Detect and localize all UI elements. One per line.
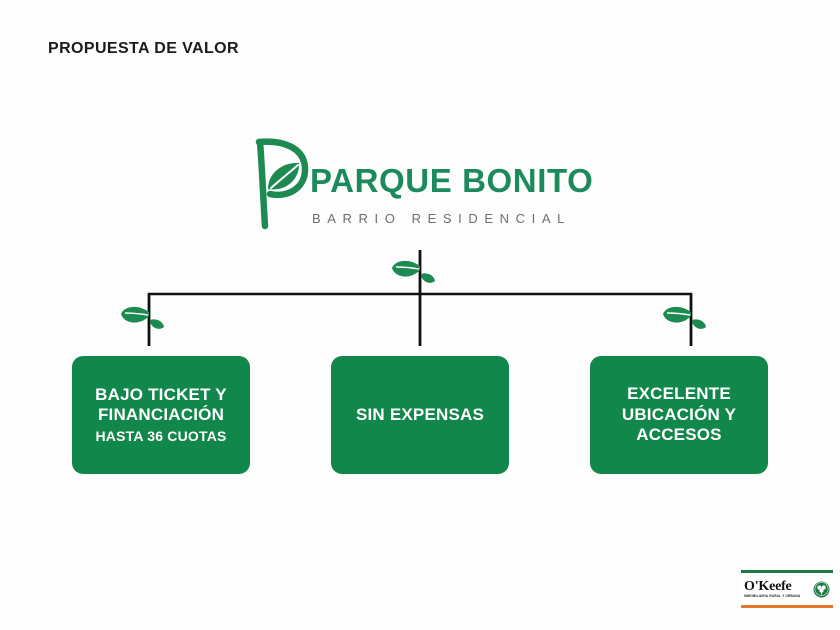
value-card-title: SIN EXPENSAS [356,405,484,426]
connector-bracket [120,248,720,368]
okeefe-name: O'Keefe [744,580,800,594]
value-card-excelente-ubicacion[interactable]: EXCELENTE UBICACIÓN Y ACCESOS [590,356,768,474]
okeefe-text-block: O'Keefe INMOBILIARIA RURAL Y URBANA [744,580,800,598]
brand-wordmark: PARQUE BONITO [310,162,593,200]
leaf-sprout-icon-left [121,307,164,329]
brand-logo: PARQUE BONITO BARRIO RESIDENCIAL [246,132,596,237]
value-card-title: EXCELENTE UBICACIÓN Y ACCESOS [600,384,758,446]
leaf-p-monogram-icon [246,132,318,232]
okeefe-subtitle: INMOBILIARIA RURAL Y URBANA [744,595,800,598]
value-card-subtitle: HASTA 36 CUOTAS [95,428,226,446]
okeefe-logo: O'Keefe INMOBILIARIA RURAL Y URBANA [741,570,833,608]
okeefe-bottom-bar [741,605,833,608]
value-card-title: BAJO TICKET Y FINANCIACIÓN [82,385,240,426]
shamrock-badge-icon [813,581,830,598]
brand-tagline: BARRIO RESIDENCIAL [312,211,571,226]
leaf-sprout-icon-right [663,307,706,329]
value-card-sin-expensas[interactable]: SIN EXPENSAS [331,356,509,474]
okeefe-logo-body: O'Keefe INMOBILIARIA RURAL Y URBANA [741,573,833,605]
leaf-sprout-icon-center [392,261,435,283]
value-card-bajo-ticket[interactable]: BAJO TICKET Y FINANCIACIÓN HASTA 36 CUOT… [72,356,250,474]
slide-canvas: PROPUESTA DE VALOR PARQUE BONITO BARRIO … [0,0,840,630]
page-title: PROPUESTA DE VALOR [48,40,239,58]
